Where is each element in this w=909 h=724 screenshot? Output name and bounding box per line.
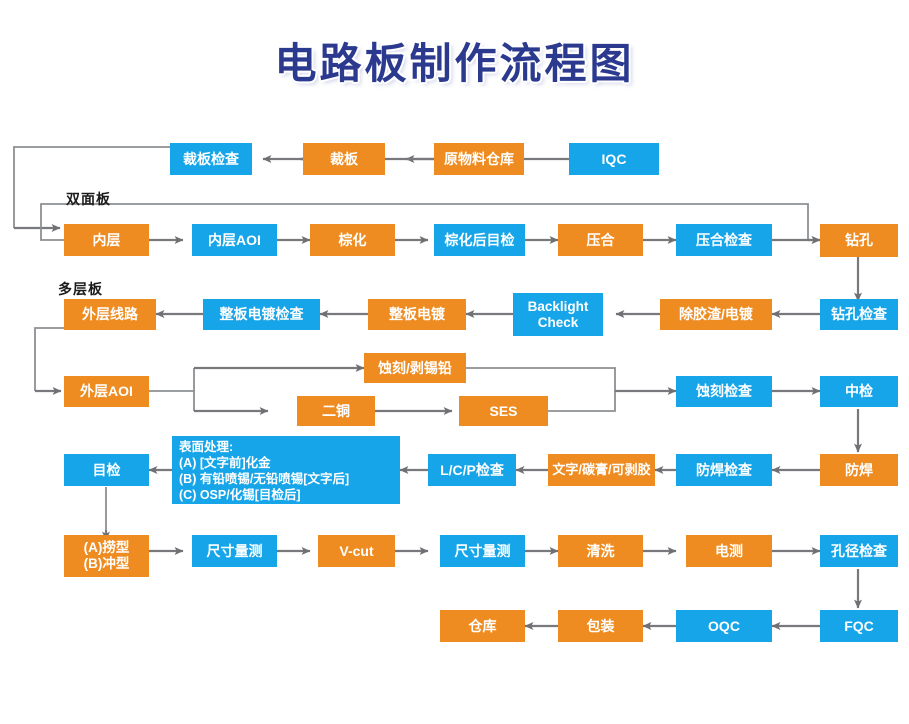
surface-note-line-2: (A) [文字前]化金 bbox=[179, 455, 394, 471]
node-warehouse[interactable]: 仓库 bbox=[440, 610, 525, 642]
node-iqc[interactable]: IQC bbox=[569, 143, 659, 175]
node-electrical-test[interactable]: 电测 bbox=[686, 535, 772, 567]
node-outer-layer-circuit[interactable]: 外层线路 bbox=[64, 299, 156, 330]
node-dimension-measure-1[interactable]: 尺寸量测 bbox=[192, 535, 277, 567]
routing-punching-line-1: (A)捞型 bbox=[84, 540, 130, 556]
node-lamination[interactable]: 压合 bbox=[558, 224, 643, 256]
node-dimension-measure-2[interactable]: 尺寸量测 bbox=[440, 535, 525, 567]
group-label-double-sided: 双面板 bbox=[66, 189, 111, 209]
node-oqc[interactable]: OQC bbox=[676, 610, 772, 642]
surface-note-line-4: (C) OSP/化锡[目检后] bbox=[179, 487, 394, 503]
node-etch-inspect[interactable]: 蚀刻检查 bbox=[676, 376, 772, 407]
node-browning[interactable]: 棕化 bbox=[310, 224, 395, 256]
node-lamination-inspect[interactable]: 压合检查 bbox=[676, 224, 772, 256]
surface-note-line-3: (B) 有铅喷锡/无铅喷锡[文字后] bbox=[179, 471, 394, 487]
node-hole-size-inspect[interactable]: 孔径检查 bbox=[820, 535, 898, 567]
group-label-multi-layer: 多层板 bbox=[58, 279, 103, 299]
node-soldermask-inspect[interactable]: 防焊检查 bbox=[676, 454, 772, 486]
surface-note-line-1: 表面处理: bbox=[179, 439, 394, 455]
node-fqc[interactable]: FQC bbox=[820, 610, 898, 642]
node-drilling[interactable]: 钻孔 bbox=[820, 224, 898, 257]
node-legend-carbon-peelable[interactable]: 文字/碳膏/可剥胶 bbox=[548, 454, 655, 486]
node-mid-inspect[interactable]: 中检 bbox=[820, 376, 898, 407]
node-drill-inspect[interactable]: 钻孔检查 bbox=[820, 299, 898, 330]
page-title: 电路板制作流程图 bbox=[0, 30, 909, 91]
node-lcp-inspect[interactable]: L/C/P检查 bbox=[428, 454, 516, 486]
node-soldermask[interactable]: 防焊 bbox=[820, 454, 898, 486]
node-etch-strip[interactable]: 蚀刻/剥锡铅 bbox=[364, 353, 466, 383]
node-routing-punching[interactable]: (A)捞型 (B)冲型 bbox=[64, 535, 149, 577]
node-desmear-plating[interactable]: 除胶渣/电镀 bbox=[660, 299, 772, 330]
node-ses[interactable]: SES bbox=[459, 396, 548, 426]
node-inner-layer[interactable]: 内层 bbox=[64, 224, 149, 256]
flowchart-canvas: 电路板制作流程图 bbox=[0, 0, 909, 724]
node-visual-inspect[interactable]: 目检 bbox=[64, 454, 149, 486]
node-panel-plating-inspect[interactable]: 整板电镀检查 bbox=[203, 299, 320, 330]
node-cut-inspect[interactable]: 裁板检查 bbox=[170, 143, 252, 175]
node-outer-layer-aoi[interactable]: 外层AOI bbox=[64, 376, 149, 407]
node-v-cut[interactable]: V-cut bbox=[318, 535, 395, 567]
node-cleaning[interactable]: 清洗 bbox=[558, 535, 643, 567]
routing-punching-line-2: (B)冲型 bbox=[84, 556, 130, 572]
node-panel-plating[interactable]: 整板电镀 bbox=[368, 299, 466, 330]
node-backlight-check[interactable]: Backlight Check bbox=[513, 293, 603, 336]
node-inner-layer-aoi[interactable]: 内层AOI bbox=[192, 224, 277, 256]
node-cut-board[interactable]: 裁板 bbox=[303, 143, 385, 175]
node-post-browning-inspect[interactable]: 棕化后目检 bbox=[434, 224, 525, 256]
node-second-copper[interactable]: 二铜 bbox=[297, 396, 375, 426]
node-packaging[interactable]: 包装 bbox=[558, 610, 643, 642]
node-raw-warehouse[interactable]: 原物料仓库 bbox=[434, 143, 524, 175]
surface-treatment-note: 表面处理: (A) [文字前]化金 (B) 有铅喷锡/无铅喷锡[文字后] (C)… bbox=[172, 436, 400, 504]
